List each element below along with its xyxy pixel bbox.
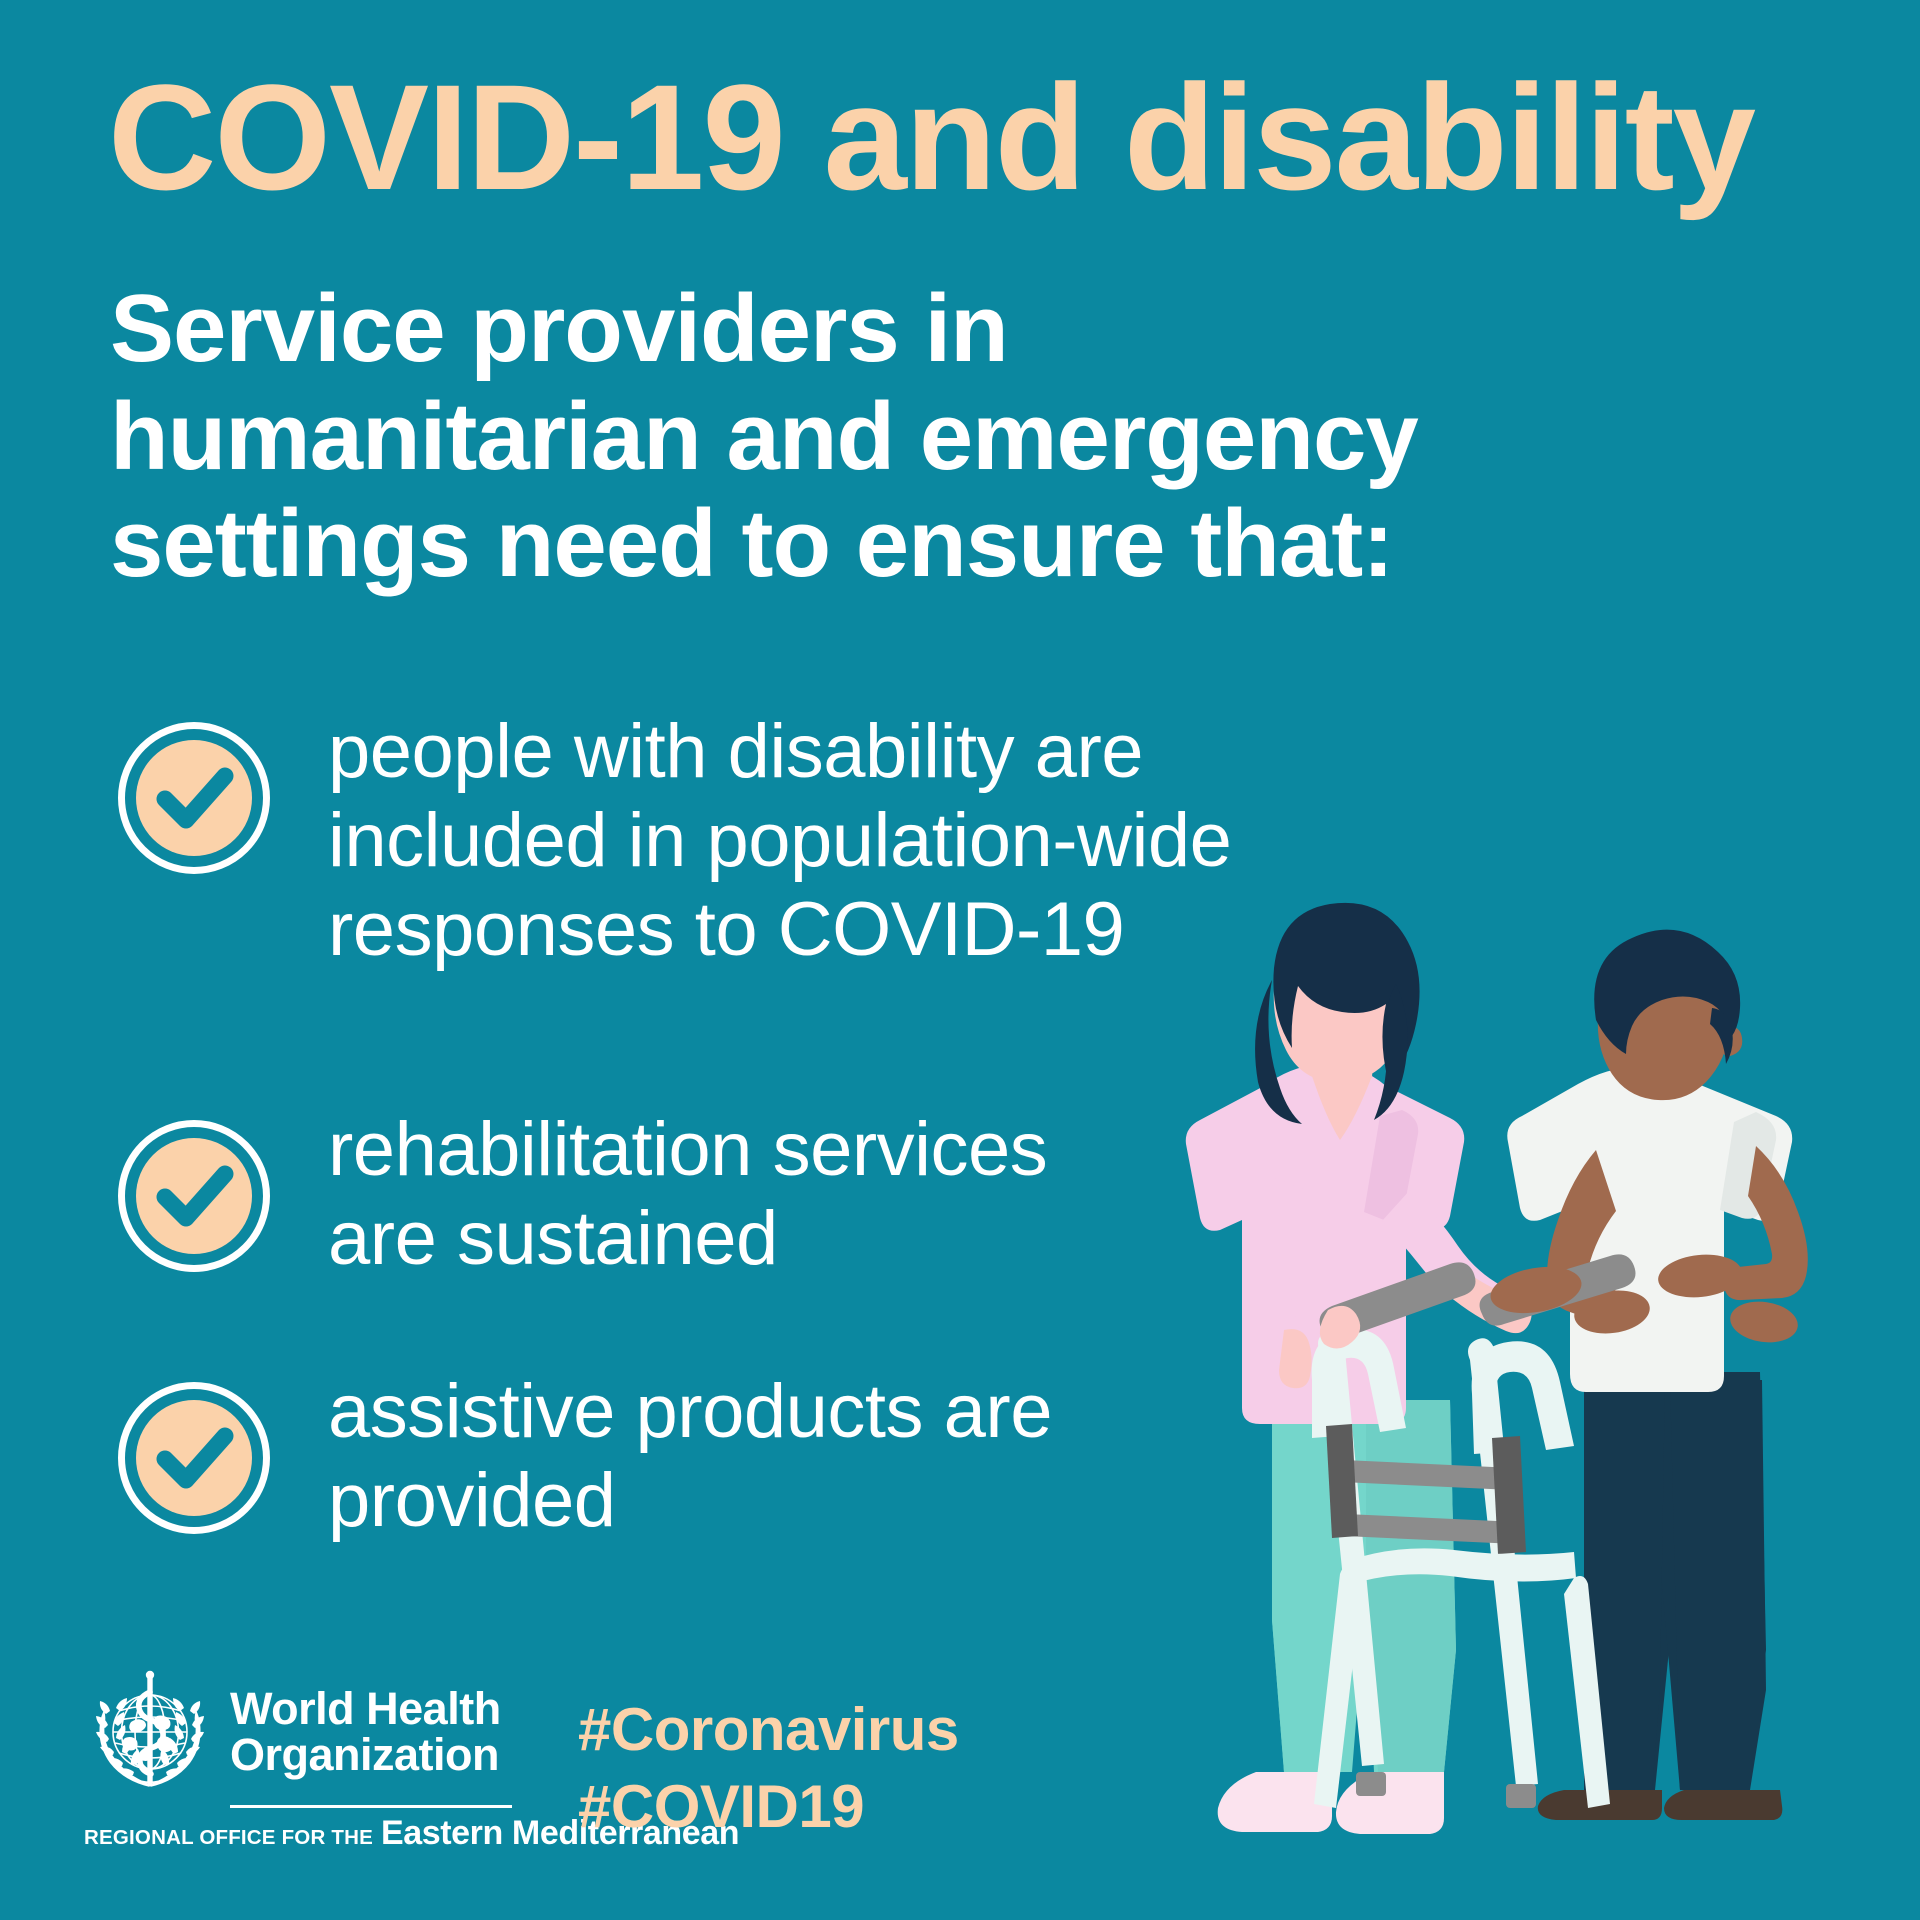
subtitle-line-1: Service providers in: [110, 275, 1650, 383]
bullet-text-1: people with disability are included in p…: [328, 708, 1231, 975]
bullet-item-3: assistive products are provided: [118, 1382, 1178, 1546]
bullet-1-line-2: included in population-wide: [328, 797, 1231, 886]
hashtag-block: #Coronavirus #COVID19: [578, 1692, 959, 1846]
subtitle: Service providers in humanitarian and em…: [110, 275, 1650, 598]
bullet-text-3: assistive products are provided: [328, 1368, 1052, 1546]
hashtag-coronavirus: #Coronavirus: [578, 1692, 959, 1769]
check-circle-icon: [118, 722, 270, 874]
bullet-2-line-1: rehabilitation services: [328, 1106, 1047, 1195]
subtitle-line-3: settings need to ensure that:: [110, 490, 1650, 598]
check-circle-icon: [118, 1382, 270, 1534]
who-name-line-2: Organization: [230, 1732, 501, 1778]
bullet-2-line-2: are sustained: [328, 1195, 1047, 1284]
who-logo-top: World Health Organization: [84, 1666, 524, 1798]
who-name-line-1: World Health: [230, 1686, 501, 1732]
bullet-1-line-1: people with disability are: [328, 708, 1231, 797]
who-regional-prefix: REGIONAL OFFICE FOR THE: [84, 1826, 373, 1850]
bullet-1-line-3: responses to COVID-19: [328, 886, 1231, 975]
hashtag-covid19: #COVID19: [578, 1769, 959, 1846]
bullet-item-2: rehabilitation services are sustained: [118, 1120, 1178, 1284]
bullet-3-line-2: provided: [328, 1457, 1052, 1546]
bullet-text-2: rehabilitation services are sustained: [328, 1106, 1047, 1284]
page-title: COVID-19 and disability: [108, 62, 1888, 212]
poster-canvas: COVID-19 and disability Service provider…: [0, 0, 1920, 1920]
subtitle-line-2: humanitarian and emergency: [110, 383, 1650, 491]
check-circle-icon: [118, 1120, 270, 1272]
bullet-3-line-1: assistive products are: [328, 1368, 1052, 1457]
who-emblem-icon: [84, 1666, 216, 1798]
who-regional-line: REGIONAL OFFICE FOR THE Eastern Mediterr…: [84, 1814, 524, 1853]
caregiver-and-patient-with-walker-illustration: [1160, 860, 1920, 1920]
who-logo-block: World Health Organization REGIONAL OFFIC…: [84, 1666, 524, 1853]
who-divider: [230, 1805, 512, 1808]
who-wordmark: World Health Organization: [230, 1686, 501, 1779]
